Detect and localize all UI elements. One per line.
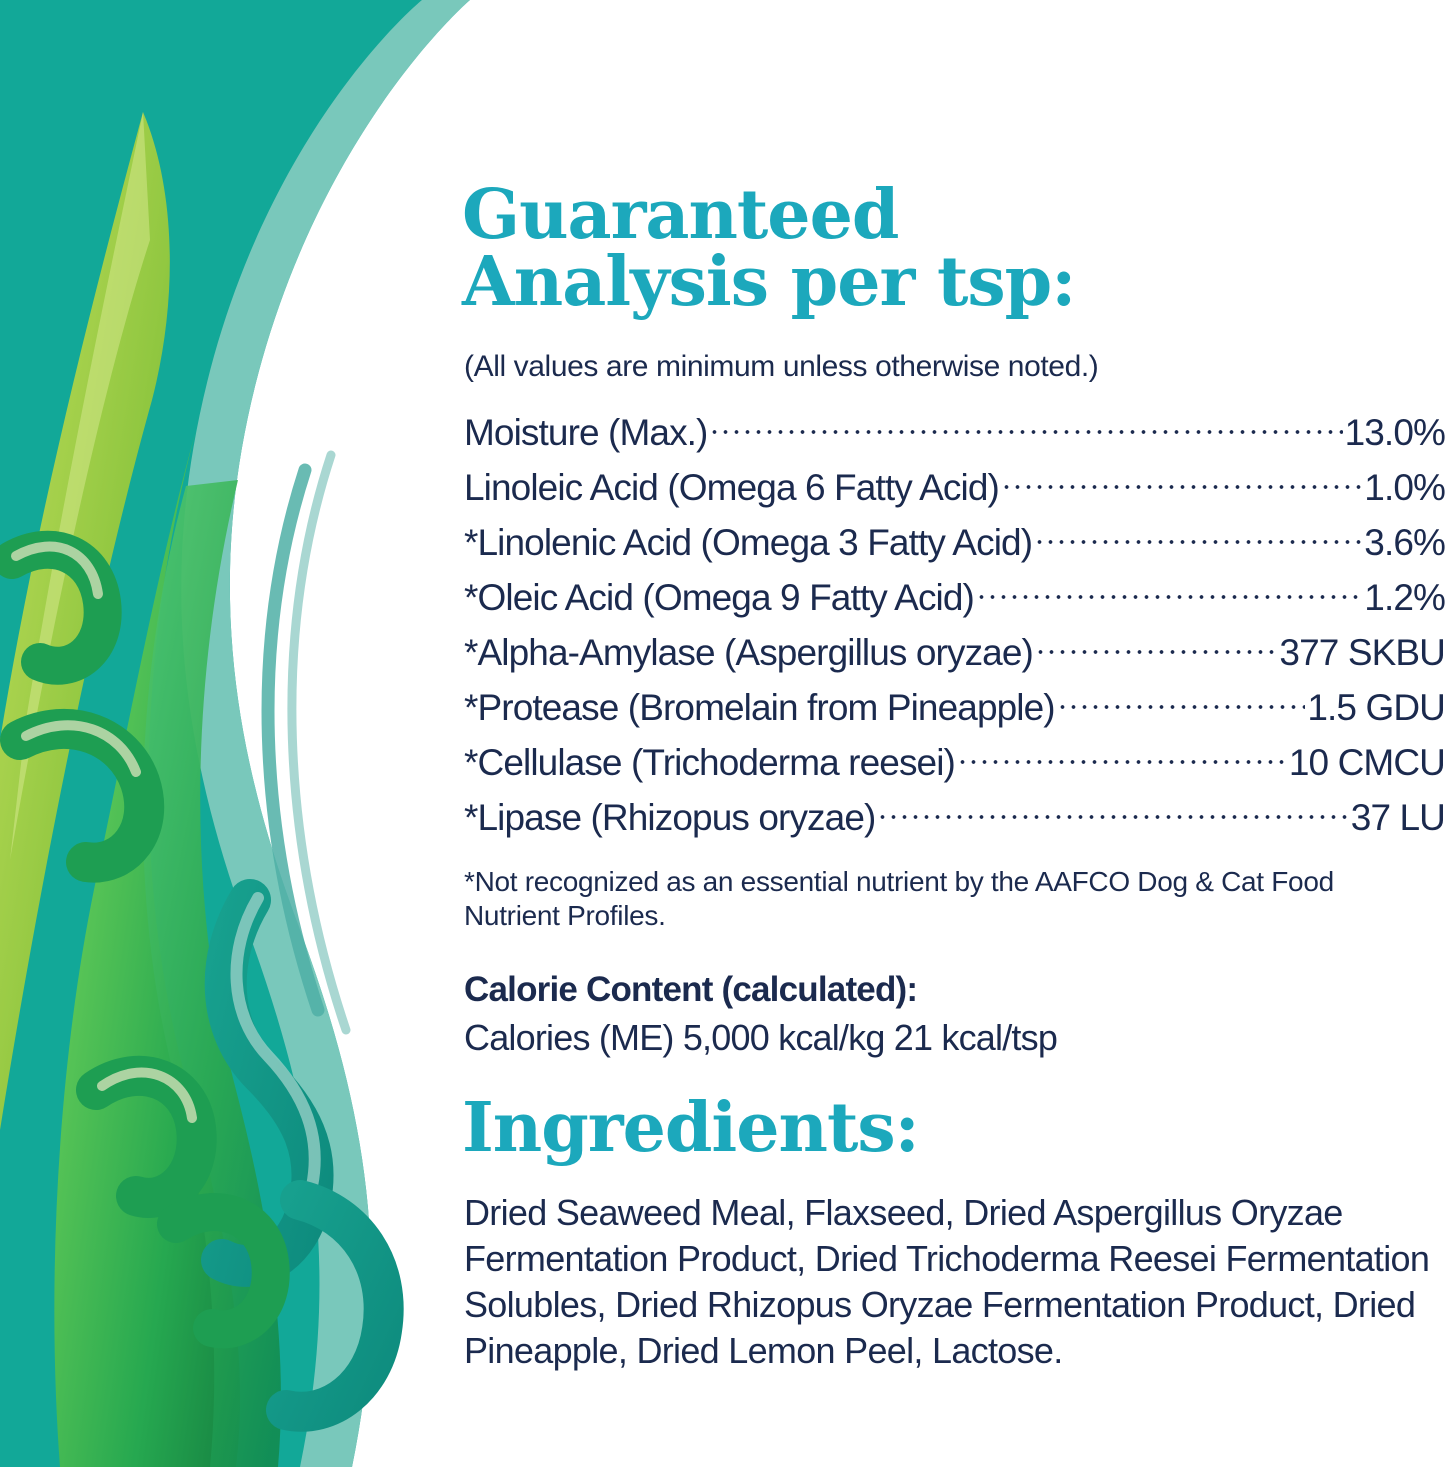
guaranteed-analysis-footnote: *Not recognized as an essential nutrient… [464, 865, 1424, 933]
ingredients-title: Ingredients: [462, 1094, 919, 1162]
analysis-nutrient-name: *Protease (Bromelain from Pineapple) [464, 687, 1055, 729]
guaranteed-analysis-title: Guaranteed Analysis per tsp: [462, 182, 1445, 315]
supplement-label-panel: Guaranteed Analysis per tsp: (All values… [0, 0, 1445, 1467]
guaranteed-analysis-row: *Oleic Acid (Omega 9 Fatty Acid)1.2% [464, 573, 1445, 628]
analysis-nutrient-name: Moisture (Max.) [464, 412, 707, 454]
analysis-nutrient-value: 3.6% [1364, 522, 1445, 564]
guaranteed-analysis-row: *Alpha-Amylase (Aspergillus oryzae)377 S… [464, 628, 1445, 683]
analysis-nutrient-name: *Linolenic Acid (Omega 3 Fatty Acid) [464, 522, 1032, 564]
analysis-nutrient-name: *Oleic Acid (Omega 9 Fatty Acid) [464, 577, 974, 619]
guaranteed-analysis-row: *Cellulase (Trichoderma reesei)10 CMCU [464, 738, 1445, 793]
dot-leader [1035, 628, 1277, 665]
dot-leader [1057, 683, 1306, 720]
analysis-nutrient-name: *Lipase (Rhizopus oryzae) [464, 797, 875, 839]
guaranteed-analysis-row: *Protease (Bromelain from Pineapple)1.5 … [464, 683, 1445, 738]
dot-leader [1034, 518, 1362, 555]
dot-leader [877, 793, 1348, 830]
guaranteed-analysis-row: Moisture (Max.)13.0% [464, 408, 1445, 463]
analysis-nutrient-name: Linoleic Acid (Omega 6 Fatty Acid) [464, 467, 999, 509]
guaranteed-analysis-row: *Linolenic Acid (Omega 3 Fatty Acid)3.6% [464, 518, 1445, 573]
dot-leader [957, 738, 1287, 775]
analysis-nutrient-value: 377 SKBU [1279, 632, 1445, 674]
analysis-nutrient-name: *Alpha-Amylase (Aspergillus oryzae) [464, 632, 1033, 674]
analysis-nutrient-value: 1.0% [1364, 467, 1445, 509]
analysis-nutrient-value: 1.5 GDU [1307, 687, 1445, 729]
dot-leader [1001, 463, 1362, 500]
guaranteed-analysis-table: Moisture (Max.)13.0%Linoleic Acid (Omega… [464, 408, 1445, 848]
guaranteed-analysis-row: Linoleic Acid (Omega 6 Fatty Acid)1.0% [464, 463, 1445, 518]
seaweed-kelp-illustration [0, 0, 470, 1467]
analysis-nutrient-value: 37 LU [1351, 797, 1445, 839]
guaranteed-analysis-note: (All values are minimum unless otherwise… [464, 350, 1098, 384]
analysis-nutrient-value: 10 CMCU [1289, 742, 1445, 784]
analysis-nutrient-name: *Cellulase (Trichoderma reesei) [464, 742, 955, 784]
calorie-content-heading: Calorie Content (calculated): [464, 970, 917, 1010]
dot-leader [709, 408, 1342, 445]
analysis-nutrient-value: 1.2% [1364, 577, 1445, 619]
calorie-content-value: Calories (ME) 5,000 kcal/kg 21 kcal/tsp [464, 1017, 1057, 1059]
label-content-column: Guaranteed Analysis per tsp: (All values… [462, 0, 1445, 1467]
ga-title-line-2: Analysis per tsp: [462, 249, 1445, 316]
ingredients-list: Dried Seaweed Meal, Flaxseed, Dried Aspe… [464, 1190, 1430, 1374]
dot-leader [976, 573, 1362, 610]
guaranteed-analysis-row: *Lipase (Rhizopus oryzae)37 LU [464, 793, 1445, 848]
analysis-nutrient-value: 13.0% [1345, 412, 1445, 454]
